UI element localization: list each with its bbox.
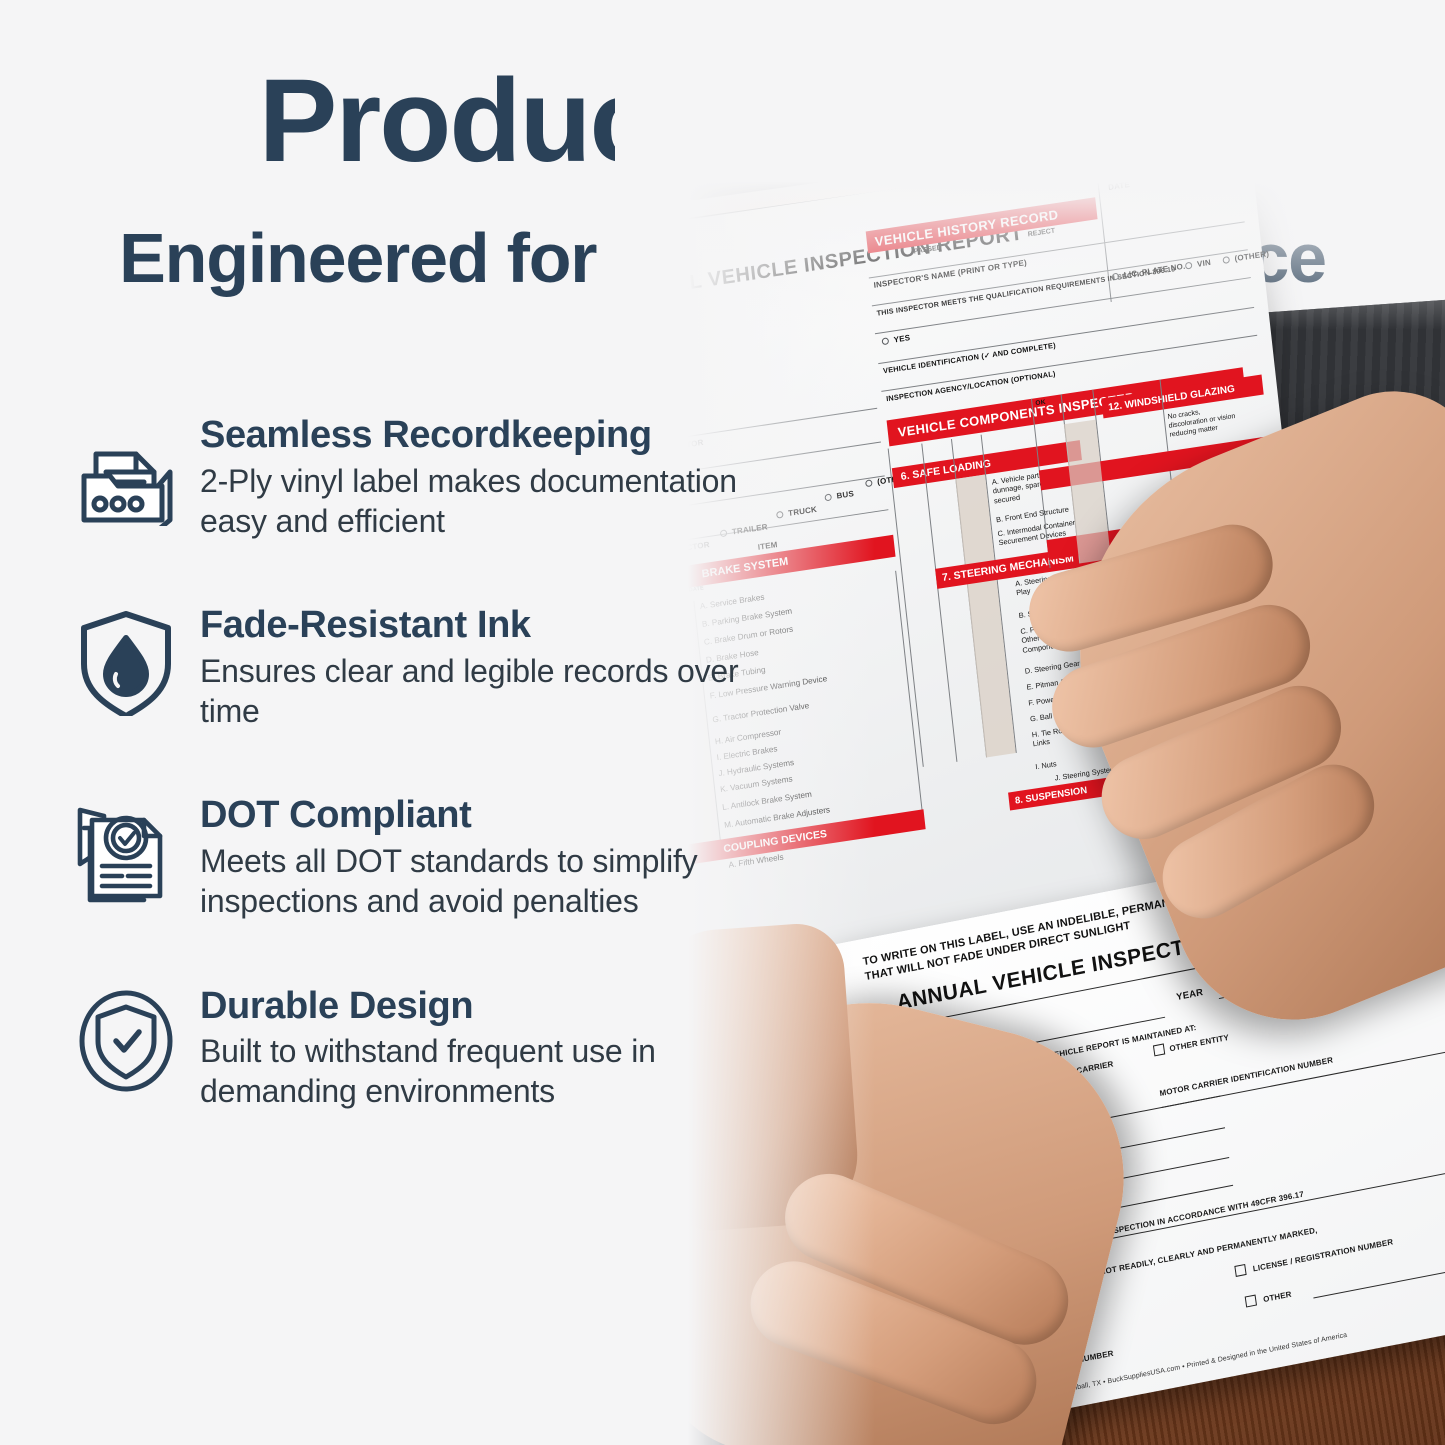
feature-description: Meets all DOT standards to simplify insp… <box>200 841 740 922</box>
feature-title: DOT Compliant <box>200 794 740 837</box>
other-checkbox-label: OTHER <box>1263 1290 1292 1304</box>
section-number: 8. <box>1014 794 1023 806</box>
inspection-item: No cracks, discoloration or vision reduc… <box>1167 402 1241 440</box>
feature-text: Seamless Recordkeeping 2-Ply vinyl label… <box>188 408 740 541</box>
feature-description: 2-Ply vinyl label makes documentation ea… <box>200 461 740 542</box>
photo-top-fade <box>615 0 1445 330</box>
document-folder-icon <box>64 408 188 532</box>
feature-text: Durable Design Built to withstand freque… <box>188 979 740 1112</box>
document-check-shield-icon <box>64 788 188 912</box>
inspection-item: I. Nuts <box>1035 759 1057 771</box>
feature-text: Fade-Resistant Ink Ensures clear and leg… <box>188 598 740 731</box>
feature-description: Built to withstand frequent use in deman… <box>200 1031 740 1112</box>
feature-item: Seamless Recordkeeping 2-Ply vinyl label… <box>64 408 744 541</box>
feature-title: Fade-Resistant Ink <box>200 604 740 647</box>
feature-text: DOT Compliant Meets all DOT standards to… <box>188 788 740 921</box>
section-name: SUSPENSION <box>1025 784 1088 804</box>
feature-item: Fade-Resistant Ink Ensures clear and leg… <box>64 598 744 731</box>
feature-item: DOT Compliant Meets all DOT standards to… <box>64 788 744 921</box>
yes-label: YES <box>893 333 910 344</box>
section-number: 7. <box>941 571 951 584</box>
circle-shield-check-icon <box>64 979 188 1103</box>
feature-item: Durable Design Built to withstand freque… <box>64 979 744 1112</box>
section-number: 6. <box>900 470 910 483</box>
section-number: 12. <box>1108 400 1123 413</box>
feature-list: Seamless Recordkeeping 2-Ply vinyl label… <box>64 408 744 1169</box>
feature-description: Ensures clear and legible records over t… <box>200 651 740 732</box>
shield-ink-drop-icon <box>64 598 188 722</box>
feature-title: Durable Design <box>200 985 740 1028</box>
feature-title: Seamless Recordkeeping <box>200 414 740 457</box>
column-ok: OK <box>1035 399 1046 407</box>
